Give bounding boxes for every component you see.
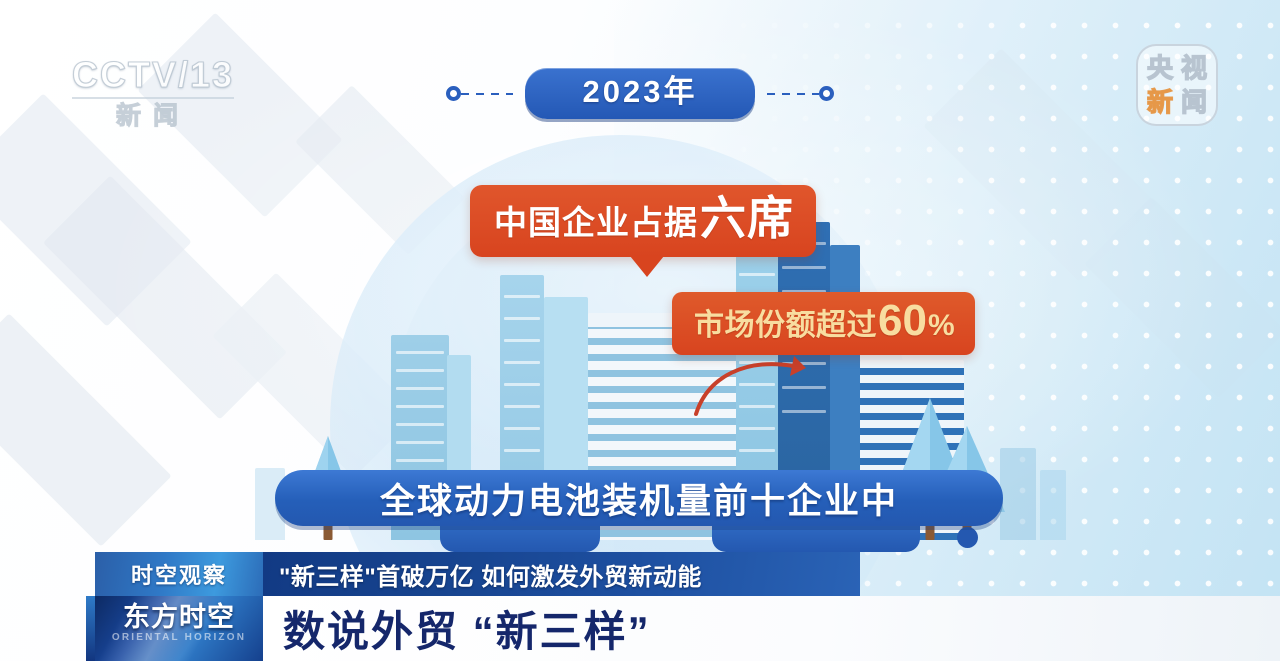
cctv13-logo-subtitle: 新闻	[72, 102, 234, 130]
cctv13-logo: CCTV/13 新闻	[72, 55, 234, 130]
building	[1040, 470, 1066, 540]
callout-orange-number: 60	[878, 302, 927, 340]
banner-tab-left	[440, 524, 600, 552]
lower-third-headline-text: "新三样"首破万亿 如何激发外贸新动能	[279, 557, 702, 592]
broadcast-frame: 2023年 中国企业占据 六席 市场份额超过 60 % 全球动力电池装机量前十企…	[0, 0, 1280, 661]
dash-line-left	[461, 93, 513, 95]
callout-orange-unit: %	[928, 309, 955, 343]
callout-red-lead: 中国企业占据	[494, 196, 698, 244]
app-logo-char-4: 闻	[1181, 88, 1207, 116]
lower-third-title: 数说外贸 “新三样”	[263, 596, 1280, 661]
cctv13-logo-wordmark: CCTV/13	[72, 55, 234, 95]
dash-end-dot-right	[819, 86, 834, 101]
dash-line-right	[767, 93, 819, 95]
lower-third-title-text: 数说外贸 “新三样”	[283, 598, 651, 659]
app-logo-char-3: 新	[1147, 88, 1173, 116]
cctv13-logo-rule	[72, 97, 234, 99]
year-badge-label: 2023年	[583, 74, 698, 110]
program-brand-en: ORIENTAL HORIZON	[95, 632, 263, 644]
lower-third-kicker: 时空观察	[95, 552, 263, 596]
lower-third-edge	[86, 596, 95, 661]
callout-market-share: 市场份额超过 60 %	[672, 292, 975, 355]
banner-dot	[957, 527, 978, 548]
banner-tab-right	[712, 524, 920, 552]
callout-orange-lead: 市场份额超过	[694, 300, 877, 344]
lower-third-headline-row: 时空观察 "新三样"首破万亿 如何激发外贸新动能	[95, 552, 860, 596]
lower-third-kicker-label: 时空观察	[131, 558, 227, 590]
program-brand-badge: 东方时空 ORIENTAL HORIZON	[95, 596, 263, 661]
program-brand-cn: 东方时空	[95, 602, 263, 632]
lower-third-title-row: 东方时空 ORIENTAL HORIZON 数说外贸 “新三样”	[95, 596, 1280, 661]
app-logo-char-1: 央	[1147, 54, 1173, 82]
app-logo-char-2: 视	[1181, 54, 1207, 82]
banner-global-battery-ranking: 全球动力电池装机量前十企业中	[275, 470, 1003, 526]
year-badge: 2023年	[525, 68, 756, 119]
dash-end-dot-left	[446, 86, 461, 101]
swoosh-arrow-icon	[690, 352, 810, 422]
lower-third-headline: "新三样"首破万亿 如何激发外贸新动能	[263, 552, 860, 596]
callout-red-emphasis: 六席	[700, 198, 794, 238]
cctv-news-app-logo: 央 视 新 闻	[1136, 44, 1218, 126]
building	[1000, 448, 1036, 540]
callout-chinese-companies: 中国企业占据 六席	[470, 185, 816, 257]
banner-label: 全球动力电池装机量前十企业中	[380, 473, 898, 524]
